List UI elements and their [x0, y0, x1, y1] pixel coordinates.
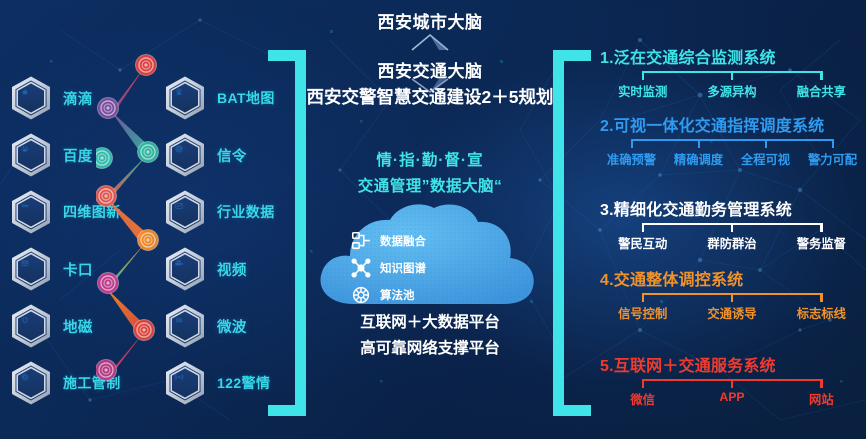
- system-title: 2.可视一体化交通指挥调度系统: [598, 112, 866, 136]
- didi-icon: [8, 75, 54, 121]
- data-source-label: 滴滴: [63, 88, 93, 109]
- chain-node: [98, 273, 119, 294]
- system-title: 3.精细化交通勤务管理系统: [598, 196, 866, 220]
- hexagon-frame: [8, 189, 54, 235]
- system-title: 1.泛在交通综合监测系统: [598, 44, 866, 68]
- system-block-3[interactable]: 3.精细化交通勤务管理系统 警民互动群防群治警务监督: [598, 196, 866, 252]
- bracket-tick: [731, 379, 733, 388]
- system-block-4[interactable]: 4.交通整体调控系统 信号控制交通诱导标志标线: [598, 266, 866, 322]
- construction-icon: [8, 360, 54, 406]
- system-subs: 准确预警精确调度全程可视警力可配: [598, 150, 866, 168]
- bracket-tick: [642, 293, 644, 302]
- cloud-item: 算法池: [350, 284, 415, 306]
- system-subs: 信号控制交通诱导标志标线: [598, 304, 866, 322]
- data-source-label: 行业数据: [217, 202, 275, 222]
- system-bracket: [598, 293, 866, 302]
- navinfo-map-icon: [8, 189, 54, 235]
- data-source-label: 卡口: [63, 259, 93, 280]
- systems-column: 1.泛在交通综合监测系统 实时监测多源异构融合共享 2.可视一体化交通指挥调度系…: [598, 0, 866, 439]
- bracket-tick: [631, 139, 633, 148]
- checkpoint-icon: [8, 246, 54, 292]
- system-sub-label: 融合共享: [777, 82, 866, 100]
- system-block-1[interactable]: 1.泛在交通综合监测系统 实时监测多源异构融合共享: [598, 44, 866, 100]
- bracket-tick: [698, 139, 700, 148]
- data-source-label: 122警情: [217, 373, 270, 393]
- system-sub-label: 实时监测: [598, 82, 687, 100]
- bracket-tick: [642, 379, 644, 388]
- chain-node: [96, 148, 113, 169]
- system-subs: 实时监测多源异构融合共享: [598, 82, 866, 100]
- system-sub-label: 微信: [598, 390, 687, 408]
- bracket-tick: [731, 223, 733, 232]
- bracket-tick: [820, 71, 822, 80]
- data-source-label: 微波: [217, 316, 247, 337]
- system-title-text: 交通整体调控系统: [614, 272, 744, 289]
- subtitle-data-brain: 交通管理”数据大脑“: [288, 174, 572, 196]
- system-bracket: [598, 379, 866, 388]
- platform-line-1: 互联网＋大数据平台: [300, 310, 560, 332]
- system-sub-label: 交通诱导: [687, 304, 776, 322]
- system-sub-label: 警民互动: [598, 234, 687, 252]
- system-number: 4.: [600, 272, 614, 289]
- hexagon-frame: [8, 303, 54, 349]
- system-number: 2.: [600, 118, 614, 135]
- system-number: 3.: [600, 202, 614, 219]
- system-bracket: [598, 223, 866, 232]
- bracket-tick: [765, 139, 767, 148]
- system-title-text: 精细化交通勤务管理系统: [614, 202, 792, 219]
- system-title: 5.互联网＋交通服务系统: [598, 352, 866, 376]
- system-sub-label: 群防群治: [687, 234, 776, 252]
- chain-node: [96, 360, 117, 381]
- data-source-label: 视频: [217, 259, 247, 280]
- cloud-item-label: 知识图谱: [380, 260, 426, 276]
- system-title-text: 泛在交通综合监测系统: [614, 50, 776, 67]
- data-fusion-icon: [350, 230, 372, 252]
- system-title-text: 可视一体化交通指挥调度系统: [614, 118, 825, 135]
- system-sub-label: APP: [687, 390, 776, 408]
- cloud-item: 数据融合: [350, 230, 426, 252]
- system-title: 4.交通整体调控系统: [598, 266, 866, 290]
- navinfo-map-icon: [22, 205, 29, 207]
- system-sub-label: 网站: [777, 390, 866, 408]
- system-sub-label: 多源异构: [687, 82, 776, 100]
- title-city-brain: 西安城市大脑: [300, 8, 560, 33]
- center-panel: 西安城市大脑 西安交通大脑 西安交警智慧交通建设2＋5规划 情·指·勤·督·宣 …: [300, 0, 560, 439]
- data-flow-chain: [96, 40, 182, 400]
- system-sub-label: 信号控制: [598, 304, 687, 322]
- data-source-5[interactable]: 地磁: [8, 303, 93, 349]
- infographic-canvas: 滴滴 百度: [0, 0, 866, 439]
- system-block-5[interactable]: 5.互联网＋交通服务系统 微信APP网站: [598, 352, 866, 408]
- bracket-tick: [820, 379, 822, 388]
- chain-node: [136, 55, 157, 76]
- bracket-tick: [820, 223, 822, 232]
- cloud-item-label: 算法池: [380, 287, 415, 303]
- knowledge-graph-icon: [350, 257, 372, 279]
- data-source-1[interactable]: 滴滴: [8, 75, 93, 121]
- bracket-tick: [642, 223, 644, 232]
- data-source-label: BAT地图: [217, 88, 275, 108]
- data-source-label: 百度: [63, 145, 93, 166]
- platform-line-2: 高可靠网络支撑平台: [300, 336, 560, 358]
- data-source-4[interactable]: 卡口: [8, 246, 93, 292]
- system-sub-label: 警力可配: [799, 150, 866, 168]
- bracket-tick: [642, 71, 644, 80]
- system-subs: 微信APP网站: [598, 390, 866, 408]
- cloud-item: 知识图谱: [350, 257, 426, 279]
- baidu-paw-icon: [8, 132, 54, 178]
- subtitle-five-functions: 情·指·勤·督·宣: [300, 148, 560, 170]
- bracket-tick: [731, 71, 733, 80]
- hexagon-frame: [8, 360, 54, 406]
- chain-node: [96, 186, 117, 207]
- magnet-icon: [8, 303, 54, 349]
- system-bracket: [598, 71, 866, 80]
- data-source-2[interactable]: 百度: [8, 132, 93, 178]
- system-sub-label: 精确调度: [665, 150, 732, 168]
- chain-node: [138, 142, 159, 163]
- system-sub-label: 警务监督: [777, 234, 866, 252]
- chevron-up-icon: [408, 32, 452, 52]
- algorithm-pool-icon: [350, 284, 372, 306]
- bracket-tick: [820, 293, 822, 302]
- bracket-bar: [632, 139, 833, 141]
- bracket-tick: [731, 293, 733, 302]
- chevron-down-icon: [408, 77, 452, 95]
- system-subs: 警民互动群防群治警务监督: [598, 234, 866, 252]
- chain-node: [98, 98, 119, 119]
- bracket-tick: [832, 139, 834, 148]
- data-source-label: 信令: [217, 145, 247, 166]
- system-sub-label: 标志标线: [777, 304, 866, 322]
- cloud-item-label: 数据融合: [380, 233, 426, 249]
- system-bracket: [598, 139, 866, 148]
- system-title-text: 互联网＋交通服务系统: [614, 358, 776, 375]
- chain-node: [134, 320, 155, 341]
- data-cloud: 数据融合 知识图谱: [314, 200, 546, 308]
- hexagon-frame: [8, 246, 54, 292]
- system-sub-label: 准确预警: [598, 150, 665, 168]
- hexagon-frame: [8, 75, 54, 121]
- system-number: 5.: [600, 358, 614, 375]
- chain-node: [138, 230, 159, 251]
- system-block-2[interactable]: 2.可视一体化交通指挥调度系统 准确预警精确调度全程可视警力可配: [598, 112, 866, 168]
- system-number: 1.: [600, 50, 614, 67]
- system-sub-label: 全程可视: [732, 150, 799, 168]
- data-source-label: 地磁: [63, 316, 93, 337]
- hexagon-frame: [8, 132, 54, 178]
